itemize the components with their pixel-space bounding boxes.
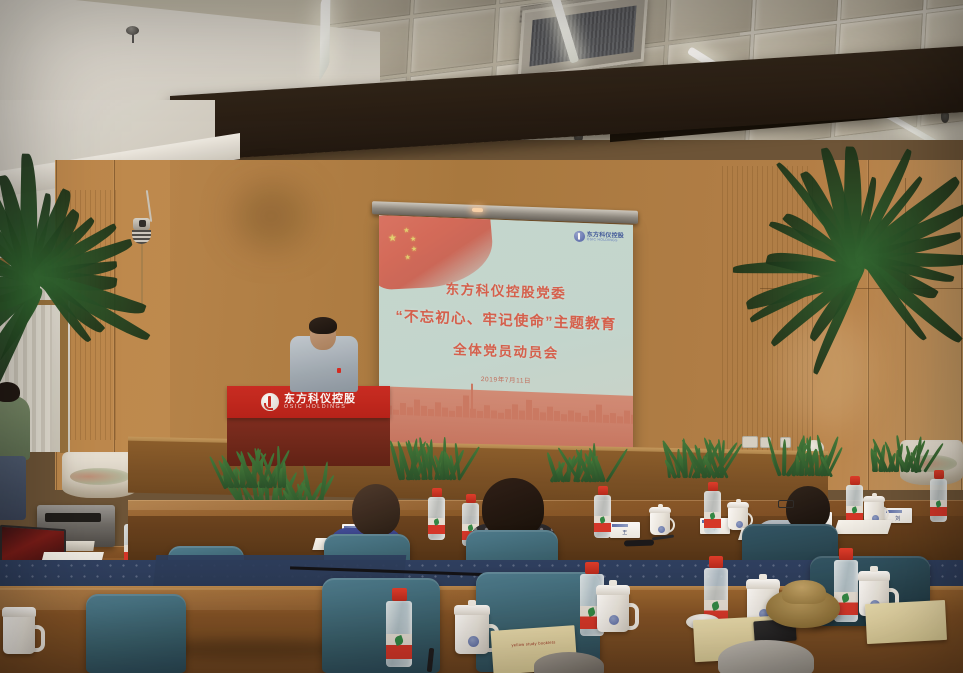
- bottle-cap: [839, 548, 853, 560]
- screen-indicator-light: [472, 208, 483, 212]
- presentation-slide: ★ ★ ★ ★ ★ 东方科仪控股 OSIC HOLDINGS 东方科仪控股党委 …: [379, 215, 633, 456]
- bottle-mid-6: [930, 470, 947, 522]
- bottle-mid-1: [428, 488, 445, 540]
- bottle-mid-3: [594, 486, 611, 538]
- bottle-cap: [708, 482, 718, 491]
- camera-drop-wire: [141, 244, 143, 304]
- skyline-building: [568, 410, 574, 421]
- standing-person-head: [0, 382, 20, 402]
- smoke-detector-stem: [132, 34, 134, 43]
- bottle-cap: [709, 556, 723, 568]
- flag-star-4: ★: [404, 254, 411, 261]
- podium-banner-text: 东方科仪控股 OSIC HOLDINGS: [284, 393, 356, 411]
- bottle-front-1: [386, 588, 412, 666]
- skyline-building: [540, 412, 546, 420]
- mug-body: [3, 614, 35, 654]
- skyline-building: [624, 411, 630, 424]
- wall-shadow-patch: [236, 186, 306, 246]
- slide-subtitle: 全体党员动员会: [379, 335, 633, 365]
- skyline-building: [582, 416, 588, 422]
- attendee-1-hair: [352, 484, 400, 536]
- flag-star-main: ★: [388, 235, 398, 242]
- straw-hat-crown: [782, 580, 826, 604]
- mug-front-5: [0, 604, 42, 654]
- mug-lid-knob: [736, 499, 741, 503]
- bottle-cap: [934, 470, 944, 479]
- skyline-building: [414, 399, 420, 415]
- skyline-building: [617, 416, 623, 423]
- skyline-building: [505, 409, 511, 419]
- ac-grille: [529, 5, 636, 66]
- skyline-building: [498, 413, 504, 419]
- bottle-cap: [598, 486, 608, 495]
- flag-star-1: ★: [403, 227, 410, 234]
- skyline-building: [484, 405, 490, 418]
- skyline-building: [407, 407, 413, 415]
- camera-lens-icon: [139, 220, 146, 227]
- mug-lid-knob: [872, 493, 877, 497]
- table-paper-2: [834, 520, 893, 534]
- straw-hat: [766, 588, 840, 628]
- mug-lid: [858, 571, 890, 581]
- sprinkler-head-2: [941, 112, 949, 123]
- foreground-person-head-2: [534, 652, 604, 673]
- ceiling-tile: [410, 8, 496, 74]
- skyline-building: [631, 415, 633, 424]
- mug-logo-icon: [658, 526, 665, 533]
- mug-lid-knob: [658, 504, 663, 508]
- name-card-2: 王: [610, 522, 640, 538]
- slide-organization: 东方科仪控股党委: [379, 275, 633, 305]
- foreground-person-head-1: [718, 640, 814, 673]
- skyline-building: [533, 408, 539, 420]
- skyline-building: [554, 411, 560, 421]
- skyline-building: [463, 395, 469, 417]
- skyline-building: [442, 408, 448, 417]
- skyline-building: [456, 406, 462, 417]
- skyline-building: [547, 407, 553, 421]
- podium-banner-en: OSIC HOLDINGS: [284, 405, 356, 411]
- skyline-building: [400, 403, 406, 415]
- mug-lid: [746, 579, 780, 589]
- mid-table-gloss: [128, 500, 963, 510]
- projection-screen: ★ ★ ★ ★ ★ 东方科仪控股 OSIC HOLDINGS 东方科仪控股党委 …: [379, 215, 633, 456]
- standing-person-legs: [0, 456, 26, 520]
- mug-lid-knob: [609, 580, 617, 586]
- slide-date: 2019年7月11日: [379, 369, 633, 389]
- chair-front-2[interactable]: [322, 578, 440, 673]
- mug-front-1: [452, 602, 496, 654]
- skyline-tv-tower: [471, 384, 473, 418]
- skyline-building: [575, 413, 581, 422]
- bottle-cap: [392, 588, 407, 601]
- booklet-3: [865, 600, 947, 644]
- skyline-building: [421, 406, 427, 416]
- mug-lid: [2, 607, 36, 617]
- bottle-mid-4: [704, 482, 721, 534]
- skyline-building: [491, 410, 497, 418]
- osic-logo-icon: [574, 231, 585, 242]
- flag-star-2: ★: [410, 236, 417, 243]
- mug-lid-knob: [468, 600, 476, 606]
- attendee-2-hair: [482, 478, 544, 538]
- slide-logo-text: 东方科仪控股 OSIC HOLDINGS: [587, 232, 624, 243]
- skyline-building: [596, 404, 602, 422]
- mug-body: [597, 592, 629, 632]
- osic-podium-logo-icon: [261, 393, 279, 411]
- plant-pot-left: [62, 452, 138, 498]
- mug-lid-knob: [759, 574, 767, 580]
- bottle-cap: [466, 494, 476, 503]
- mug-logo-icon: [736, 521, 743, 528]
- standing-person-torso: [0, 396, 30, 460]
- bottle-cap: [585, 562, 599, 574]
- printer-paper-slot: [45, 513, 101, 522]
- mug-lid-knob: [870, 566, 878, 572]
- skyline-building: [435, 402, 441, 416]
- microphone-base-1[interactable]: [624, 539, 654, 546]
- skyline-building: [428, 409, 434, 416]
- slide-logo: 东方科仪控股 OSIC HOLDINGS: [574, 231, 624, 244]
- name-card-logo-bar: [612, 524, 628, 527]
- skyline-building: [589, 410, 595, 422]
- booklet-1-text: yellow study booklets: [491, 638, 575, 650]
- mug-lid: [596, 585, 630, 595]
- skyline-building: [393, 410, 399, 415]
- wall-outlet-1[interactable]: [742, 436, 758, 448]
- mug-logo-icon: [468, 636, 479, 647]
- skyline-building: [449, 411, 455, 417]
- chair-front-1[interactable]: [86, 594, 186, 673]
- slide-theme: “不忘初心、牢记使命”主题教育: [379, 304, 633, 335]
- conference-room-photo: ★ ★ ★ ★ ★ 东方科仪控股 OSIC HOLDINGS 东方科仪控股党委 …: [0, 0, 963, 673]
- bottle-cap: [850, 476, 860, 485]
- slide-logo-en: OSIC HOLDINGS: [587, 238, 624, 243]
- mug-mid-1: [648, 505, 674, 535]
- bottle-cap: [432, 488, 442, 497]
- skyline-building: [561, 414, 567, 421]
- slide-title-block: 东方科仪控股党委 “不忘初心、牢记使命”主题教育 全体党员动员会 2019年7月…: [379, 275, 633, 389]
- mug-front-2: [594, 582, 636, 632]
- attendee-3-glasses-icon: [778, 500, 794, 508]
- skyline-building: [603, 415, 609, 423]
- speaker-party-badge: [337, 368, 341, 373]
- skyline-building: [610, 413, 616, 423]
- name-card-label-2: 王: [610, 529, 640, 536]
- mug-lid: [454, 605, 490, 615]
- skyline-building: [512, 404, 518, 419]
- skyline-building: [519, 410, 525, 419]
- grass-blade: [782, 439, 787, 476]
- skyline-building: [526, 400, 532, 420]
- mug-body: [455, 612, 489, 654]
- speaker-hair: [309, 317, 337, 334]
- skyline-building: [477, 411, 483, 418]
- mug-body: [650, 511, 670, 535]
- mug-logo-icon: [609, 615, 619, 625]
- flag-star-3: ★: [411, 246, 418, 253]
- pot-decoration-left: [70, 468, 131, 485]
